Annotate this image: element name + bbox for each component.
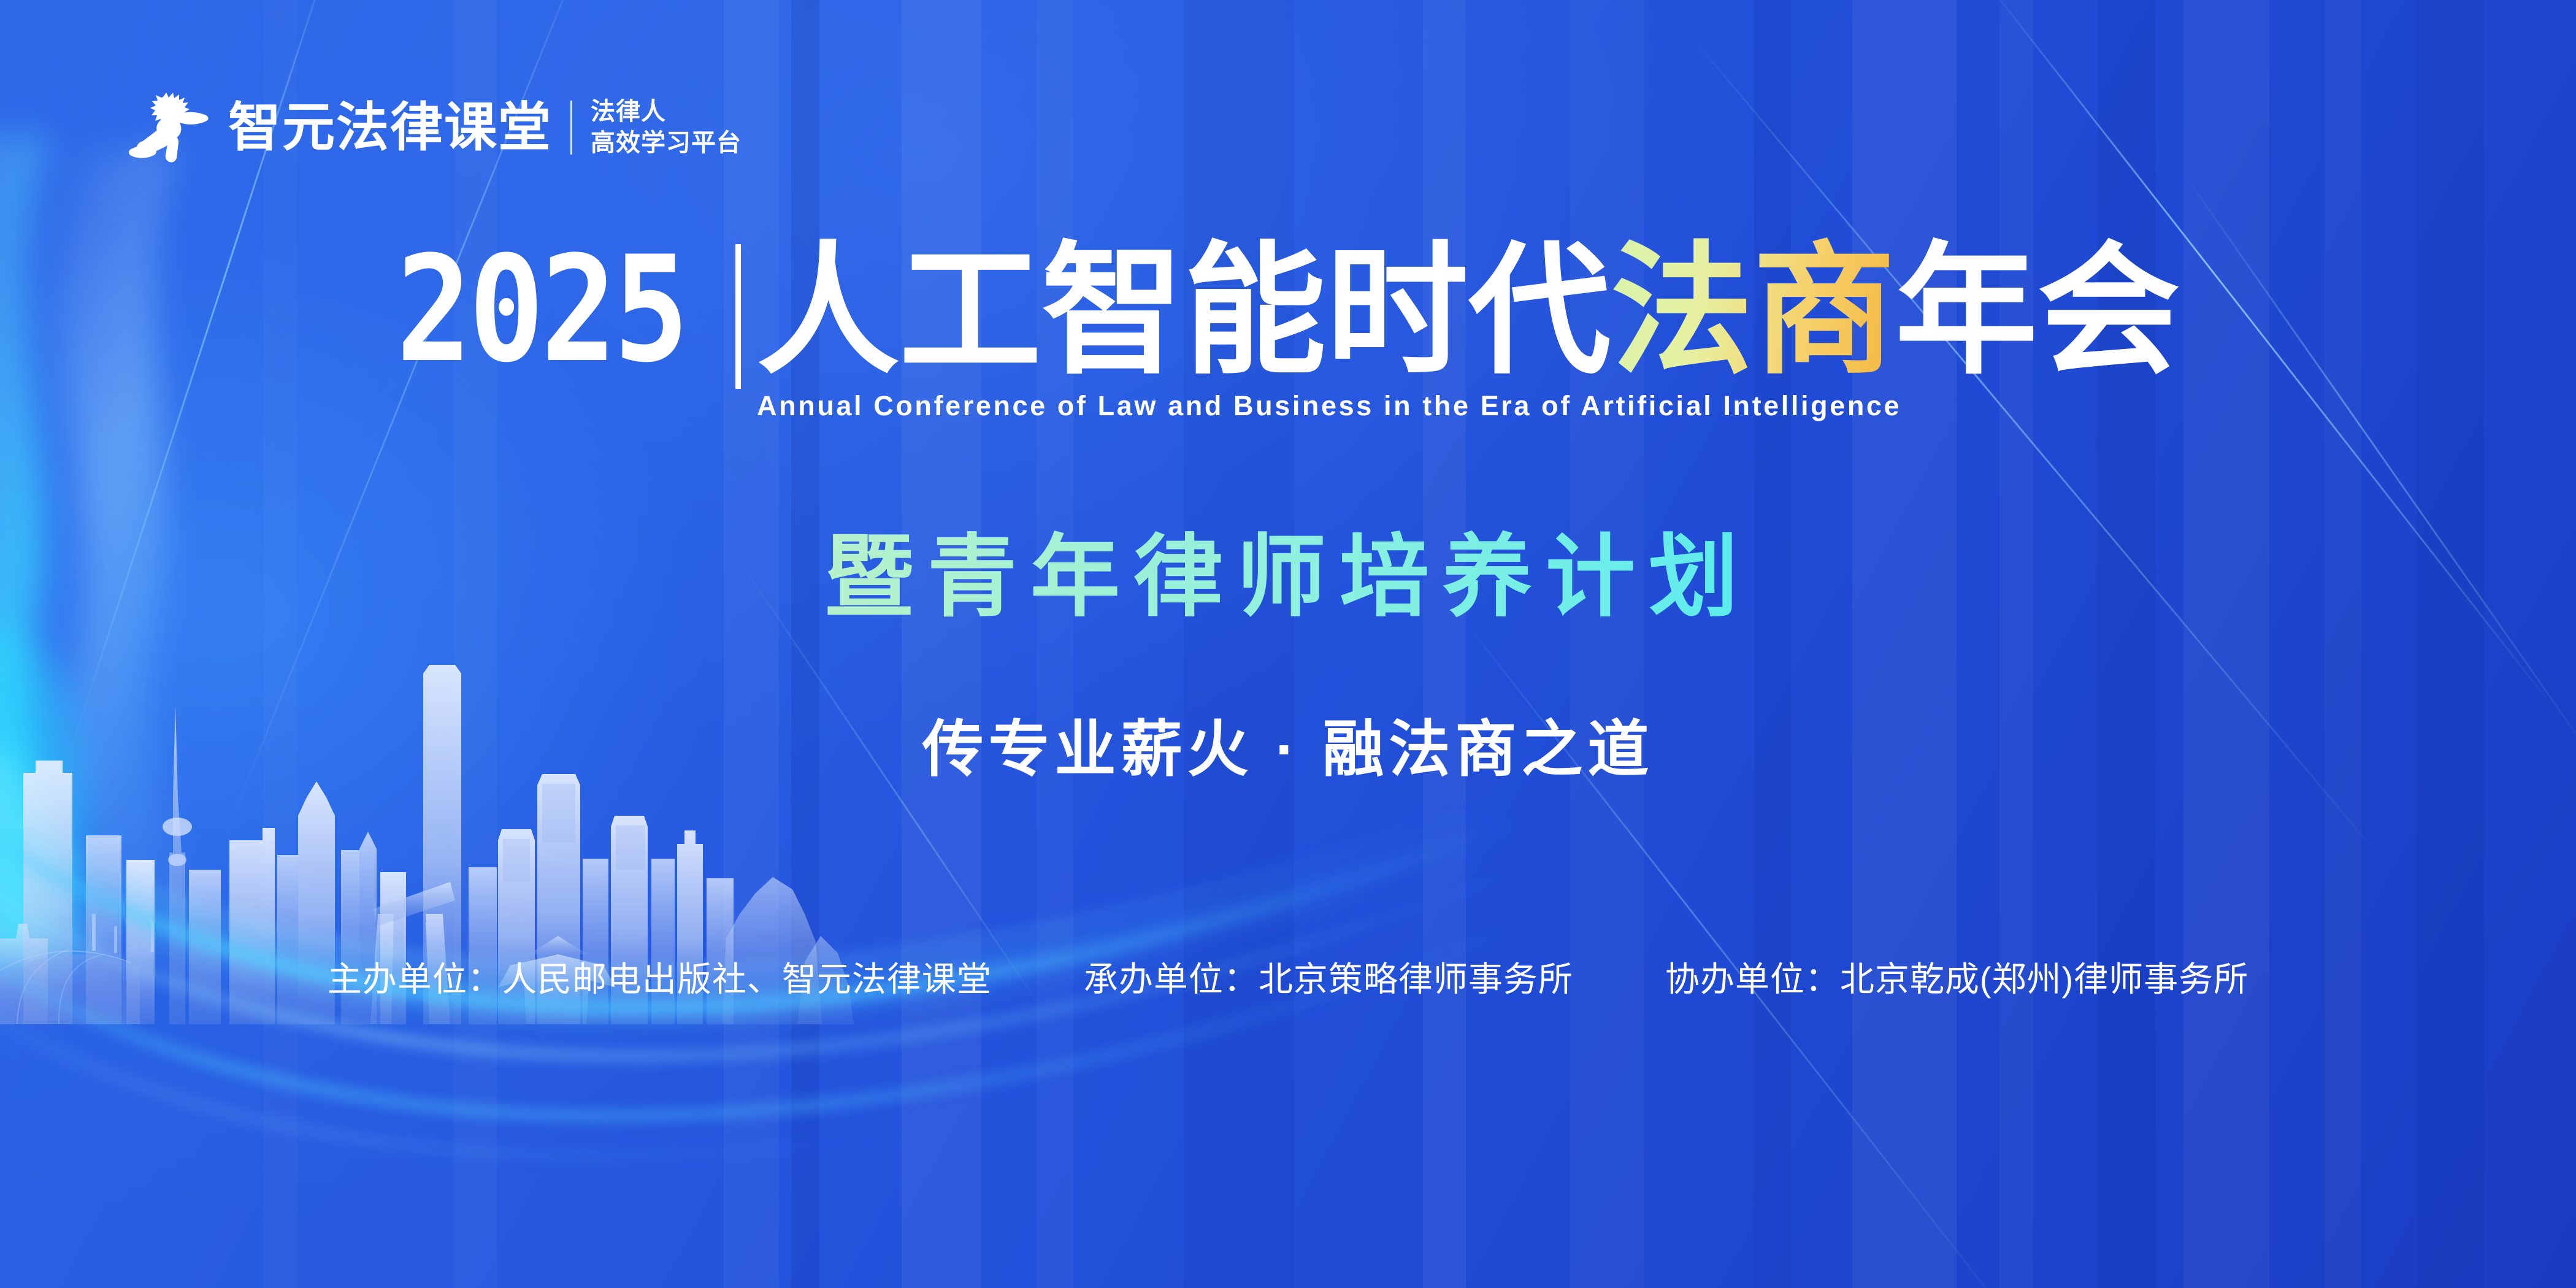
logo-wordmark: 智元法律课堂 xyxy=(228,101,552,154)
brand-logo[interactable]: 智元法律课堂 法律人 高效学习平台 xyxy=(128,92,742,163)
title-cn-white-part: 人工智能时代 xyxy=(757,232,1611,391)
running-person-with-book-icon xyxy=(128,92,220,163)
title-divider-bar xyxy=(735,244,741,389)
title-text-block: 人工智能时代法商年会 Annual Conference of Law and … xyxy=(757,240,2180,422)
organizer-undertaker-name: 北京策略律师事务所 xyxy=(1259,960,1573,999)
organizer-host-name: 人民邮电出版社、智元法律课堂 xyxy=(502,960,992,999)
title-english-subtitle: Annual Conference of Law and Business in… xyxy=(757,390,2180,422)
title-cn-white-tail: 年会 xyxy=(1895,232,2180,391)
organizer-coorganizer: 协办单位：北京乾成(郑州)律师事务所 xyxy=(1665,952,2248,1002)
logo-tagline-line2: 高效学习平台 xyxy=(591,128,742,159)
title-chinese-line: 人工智能时代法商年会 xyxy=(757,240,2180,383)
background-diagonal-streaks xyxy=(0,0,2576,1288)
background-vertical-bands xyxy=(0,0,2576,1288)
organizer-coorganizer-role: 协办单位： xyxy=(1665,960,1840,999)
organizer-host-role: 主办单位： xyxy=(328,960,502,999)
main-title: 2025 人工智能时代法商年会 Annual Conference of Law… xyxy=(0,240,2576,422)
organizer-coorganizer-name: 北京乾成(郑州)律师事务所 xyxy=(1840,960,2248,999)
sub-headline: 暨青年律师培养计划 xyxy=(0,529,2576,626)
organizer-row: 主办单位：人民邮电出版社、智元法律课堂 承办单位：北京策略律师事务所 协办单位：… xyxy=(0,952,2576,1002)
organizer-undertaker-role: 承办单位： xyxy=(1084,960,1259,999)
conference-banner: 智元法律课堂 法律人 高效学习平台 2025 人工智能时代法商年会 Annual… xyxy=(0,0,2576,1288)
logo-divider xyxy=(570,101,572,155)
logo-tagline: 法律人 高效学习平台 xyxy=(591,96,742,159)
organizer-host: 主办单位：人民邮电出版社、智元法律课堂 xyxy=(328,952,992,1002)
organizer-undertaker: 承办单位：北京策略律师事务所 xyxy=(1084,952,1573,1002)
title-cn-gradient-part: 法商 xyxy=(1611,232,1895,391)
title-year: 2025 xyxy=(396,240,686,380)
logo-tagline-line1: 法律人 xyxy=(591,96,742,128)
tagline: 传专业薪火 · 融法商之道 xyxy=(0,699,2576,788)
